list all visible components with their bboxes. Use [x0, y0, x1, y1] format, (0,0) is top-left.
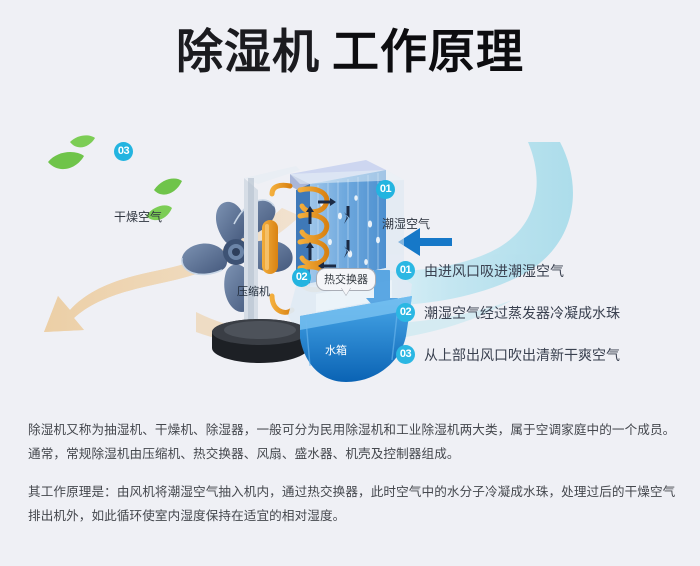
step-badge-03: 03	[396, 345, 415, 364]
step-item-01: 01 由进风口吸进潮湿空气	[396, 255, 686, 286]
callout-tail-icon	[341, 287, 351, 295]
page-title-lead: 除湿机	[176, 28, 320, 75]
process-steps-list: 01 由进风口吸进潮湿空气 02 潮湿空气经过蒸发器冷凝成水珠 03 从上部出风…	[396, 255, 686, 381]
diagram-label-water-tank: 水箱	[325, 342, 347, 358]
diagram-badge-humid-air: 01	[376, 180, 395, 199]
callout-heat-exchanger-label: 热交换器	[324, 274, 368, 286]
compressor-cylinder	[262, 220, 278, 274]
step-item-03: 03 从上部出风口吹出清新干爽空气	[396, 339, 686, 370]
step-text-02: 潮湿空气经过蒸发器冷凝成水珠	[424, 303, 620, 323]
diagram-badge-heat-exchanger: 02	[292, 268, 311, 287]
step-badge-01: 01	[396, 261, 415, 280]
diagram-badge-dry-air: 03	[114, 142, 133, 161]
step-text-01: 由进风口吸进潮湿空气	[424, 261, 564, 281]
page-title-emphasis: 工作原理	[332, 28, 524, 75]
description-body: 除湿机又称为抽湿机、干燥机、除湿器，一般可分为民用除湿机和工业除湿机两大类，属于…	[28, 418, 676, 528]
intake-arrow	[398, 228, 452, 256]
machine-base	[212, 319, 308, 363]
step-badge-02: 02	[396, 303, 415, 322]
step-item-02: 02 潮湿空气经过蒸发器冷凝成水珠	[396, 297, 686, 328]
diagram-label-dry-air: 干燥空气	[114, 208, 162, 225]
diagram-label-compressor: 压缩机	[237, 283, 270, 299]
description-paragraph-2: 其工作原理是：由风机将潮湿空气抽入机内，通过热交换器，此时空气中的水分子冷凝成水…	[28, 480, 676, 528]
page-title: 除湿机工作原理	[0, 28, 700, 75]
diagram-label-humid-air: 潮湿空气	[382, 215, 430, 232]
step-text-03: 从上部出风口吹出清新干爽空气	[424, 345, 620, 365]
description-paragraph-1: 除湿机又称为抽湿机、干燥机、除湿器，一般可分为民用除湿机和工业除湿机两大类，属于…	[28, 418, 676, 466]
